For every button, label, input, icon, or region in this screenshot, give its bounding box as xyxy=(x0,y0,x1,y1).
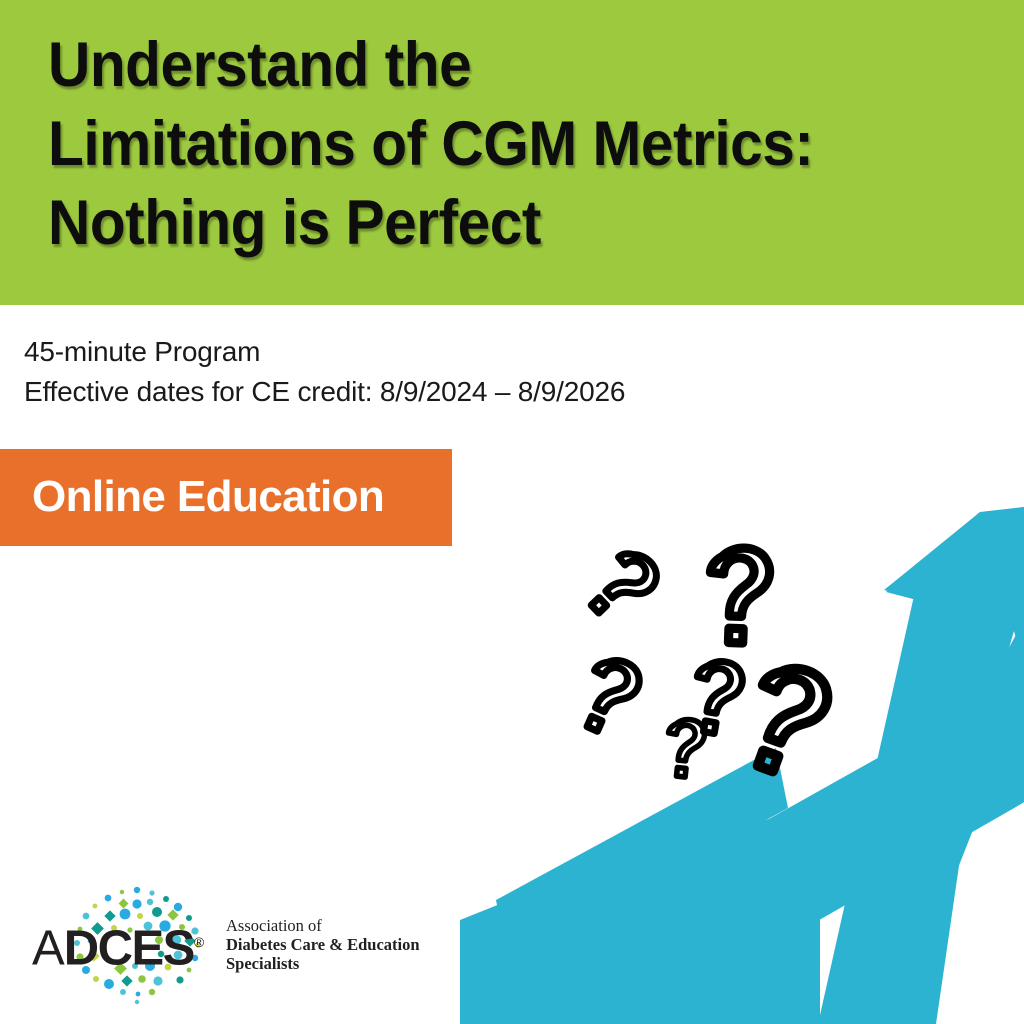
question-mark-2 xyxy=(708,547,770,644)
wordmark-dces: DCES xyxy=(64,921,194,975)
program-details: 45-minute Program Effective dates for CE… xyxy=(24,332,625,412)
registered-mark: ® xyxy=(194,934,204,950)
program-duration: 45-minute Program xyxy=(24,332,625,372)
title-line-2: Limitations of CGM Metrics: xyxy=(48,105,922,184)
wordmark-a: A xyxy=(32,921,64,975)
tagline-line-1: Association of xyxy=(226,916,426,935)
online-education-label: Online Education xyxy=(32,472,384,522)
adces-wordmark: ADCES® xyxy=(32,918,204,973)
tagline-line-3: Specialists xyxy=(226,954,426,973)
adces-logo: ADCES® Association of Diabetes Care & Ed… xyxy=(30,878,420,1008)
page-title: Understand the Limitations of CGM Metric… xyxy=(48,26,988,263)
poster-canvas: Understand the Limitations of CGM Metric… xyxy=(0,0,1024,1024)
question-mark-4 xyxy=(688,657,745,736)
question-mark-6 xyxy=(736,658,834,780)
online-education-banner: Online Education xyxy=(0,449,452,546)
title-line-3: Nothing is Perfect xyxy=(48,184,922,263)
tagline-line-2: Diabetes Care & Education xyxy=(226,935,426,954)
adces-tagline: Association of Diabetes Care & Education… xyxy=(226,916,426,973)
question-mark-3 xyxy=(573,652,646,739)
title-line-1: Understand the xyxy=(48,26,922,105)
question-mark-5 xyxy=(664,718,706,779)
program-ce-dates: Effective dates for CE credit: 8/9/2024 … xyxy=(24,372,625,412)
question-mark-1 xyxy=(580,544,664,627)
